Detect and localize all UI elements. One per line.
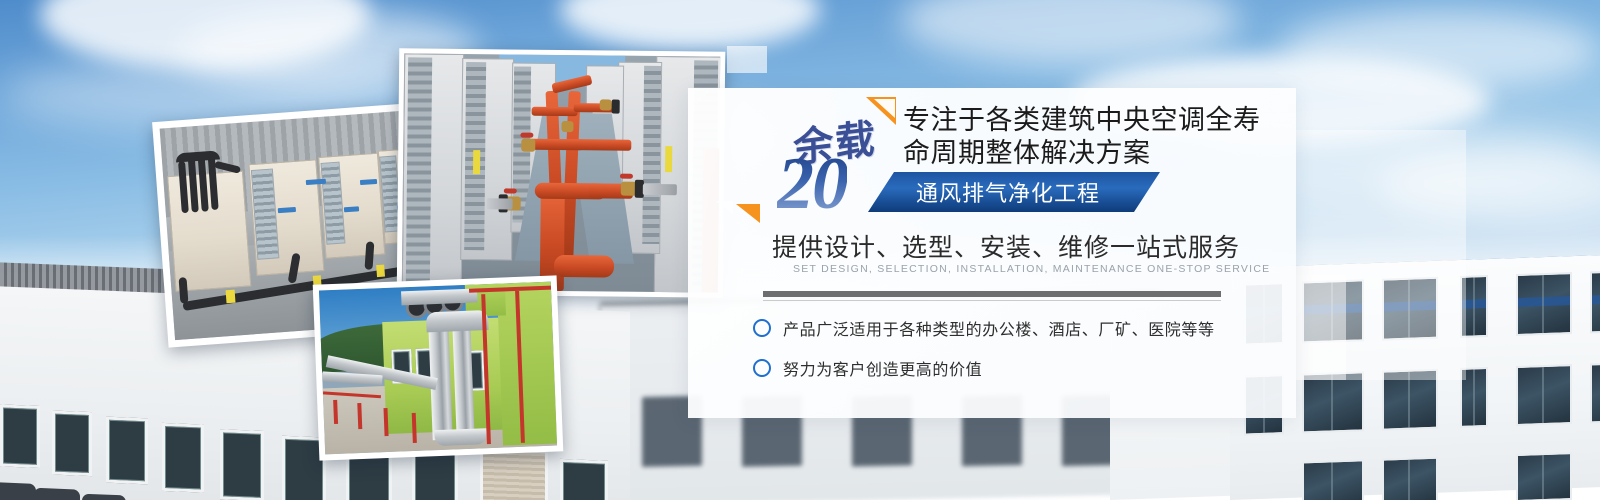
service-ribbon-label: 通风排气净化工程 [916,176,1100,208]
page-title: 专注于各类建筑中央空调全寿命周期整体解决方案 [903,104,1283,170]
subtitle-en: SET DESIGN, SELECTION, INSTALLATION, MAI… [793,263,1263,275]
arrow-corner-icon [866,97,896,125]
circle-bullet-icon [753,319,771,337]
divider-thin [763,300,1221,301]
list-item-label: 产品广泛适用于各种类型的办公楼、酒店、厂矿、医院等等 [783,316,1215,340]
service-ribbon: 通风排气净化工程 [868,172,1160,212]
list-item: 努力为客户创造更高的价值 [753,356,1273,380]
panel-ghost-overlay-lower [1296,275,1346,380]
arrow-small-icon [736,204,760,223]
years-number: 20 [777,147,847,221]
hvac-promo-banner: 余载 20 专注于各类建筑中央空调全寿命周期整体解决方案 通风排气净化工程 提供… [0,0,1600,500]
list-item: 产品广泛适用于各种类型的办公楼、酒店、厂矿、医院等等 [753,316,1273,340]
list-item-label: 努力为客户创造更高的价值 [783,356,982,380]
divider-thick [763,291,1221,297]
photo-red-chilled-water-piping [397,48,726,297]
subtitle-cn: 提供设计、选型、安装、维修一站式服务 [772,228,1242,264]
decorative-accent-square [727,46,767,73]
photo-rooftop-insulated-duct [313,275,564,460]
circle-bullet-icon [753,359,771,377]
feature-bullet-list: 产品广泛适用于各种类型的办公楼、酒店、厂矿、医院等等 努力为客户创造更高的价值 [753,316,1273,396]
